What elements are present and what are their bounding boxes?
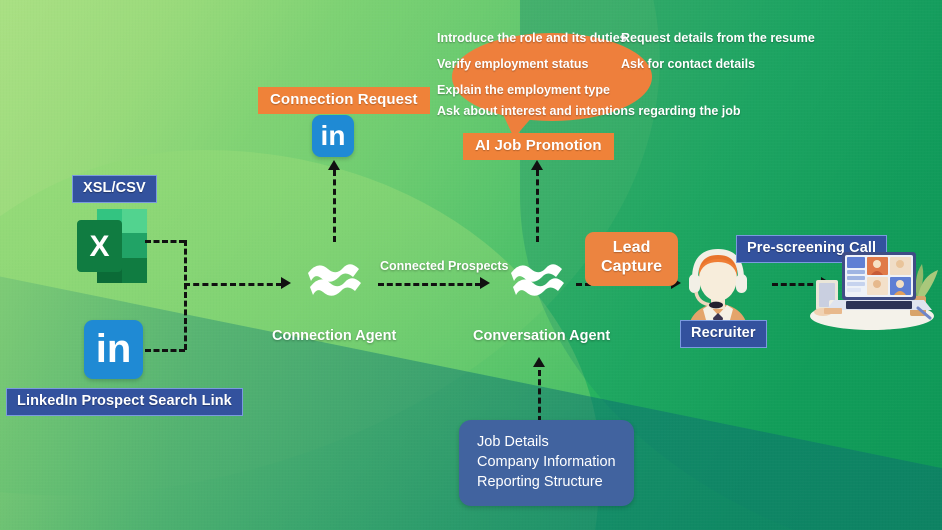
laptop-video-call-icon [806, 238, 938, 332]
prompt-item-3: Verify employment status [437, 57, 588, 71]
linkedin-connection-icon: in [312, 115, 354, 157]
excel-file-icon: X [75, 207, 149, 285]
linkedin-logo-icon: in [84, 320, 143, 379]
arrowhead-knowledge-to-agent [533, 357, 545, 367]
arrowhead-ai-job-promotion [531, 160, 543, 170]
knowledge-line-1: Job Details [477, 432, 616, 452]
ai-job-promotion-badge: AI Job Promotion [463, 133, 614, 160]
lead-capture-line-2: Capture [601, 258, 662, 277]
arrowhead-to-connection-agent [281, 277, 291, 289]
lead-capture-line-1: Lead [601, 239, 662, 258]
recruiter-badge: Recruiter [680, 320, 767, 348]
edge-merge-vertical [184, 240, 187, 350]
prompt-item-2: Request details from the resume [621, 31, 815, 45]
edge-sources-to-connection-agent [184, 283, 282, 286]
prompt-item-4: Ask for contact details [621, 57, 755, 71]
edge-linkedin-out [145, 349, 185, 352]
conversation-agent-icon [500, 243, 576, 319]
connected-prospects-label: Connected Prospects [380, 259, 509, 273]
prompt-item-6: Ask about interest and intentions regard… [437, 104, 741, 118]
knowledge-box: Job Details Company Information Reportin… [459, 420, 634, 506]
knowledge-line-3: Reporting Structure [477, 472, 616, 492]
diagram-canvas: XSL/CSV X in LinkedIn Prospect Search Li… [0, 0, 942, 530]
arrowhead-connected-prospects [480, 277, 490, 289]
knowledge-line-2: Company Information [477, 452, 616, 472]
connection-agent-icon [297, 243, 373, 319]
edge-excel-out [145, 240, 185, 243]
arrowhead-connection-request [328, 160, 340, 170]
svg-text:X: X [89, 230, 109, 263]
edge-connection-request [333, 170, 336, 242]
prompt-item-5: Explain the employment type [437, 83, 610, 97]
connection-request-badge: Connection Request [258, 87, 430, 114]
lead-capture-badge: Lead Capture [585, 232, 678, 286]
linkedin-prospect-search-link-badge: LinkedIn Prospect Search Link [6, 388, 243, 416]
edge-knowledge-to-agent [538, 370, 541, 422]
edge-connected-prospects [378, 283, 481, 286]
edge-ai-job-promotion [536, 170, 539, 242]
connection-agent-label: Connection Agent [272, 328, 396, 344]
conversation-agent-label: Conversation Agent [473, 328, 610, 344]
prompt-item-1: Introduce the role and its duties [437, 31, 627, 45]
xslcsv-badge: XSL/CSV [72, 175, 157, 203]
